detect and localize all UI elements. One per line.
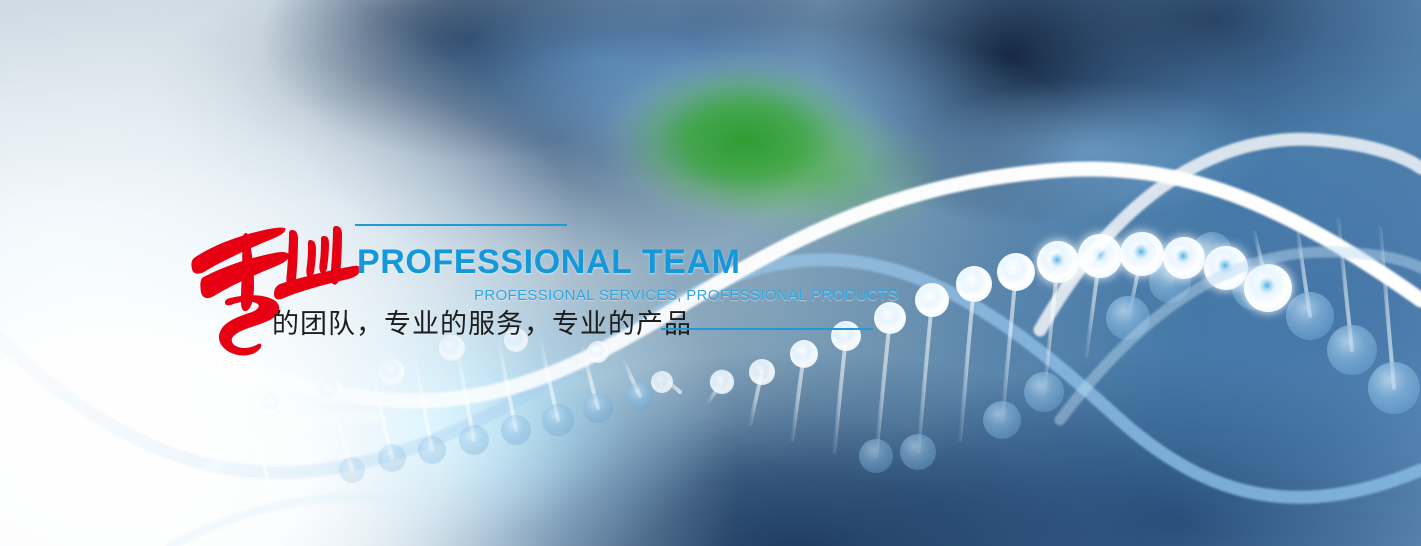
hero-banner: PROFESSIONAL TEAM PROFESSIONAL SERVICES,… [0, 0, 1421, 546]
headline-subtitle-en: PROFESSIONAL SERVICES, PROFESSIONAL PROD… [474, 286, 898, 306]
headline-tagline-cn: 的团队，专业的服务，专业的产品 [272, 305, 692, 343]
banner-text-block: PROFESSIONAL TEAM PROFESSIONAL SERVICES,… [0, 0, 1421, 546]
decorative-rule-top [355, 224, 567, 226]
headline-title-en: PROFESSIONAL TEAM [357, 242, 741, 282]
decorative-rule-bottom [661, 328, 873, 330]
